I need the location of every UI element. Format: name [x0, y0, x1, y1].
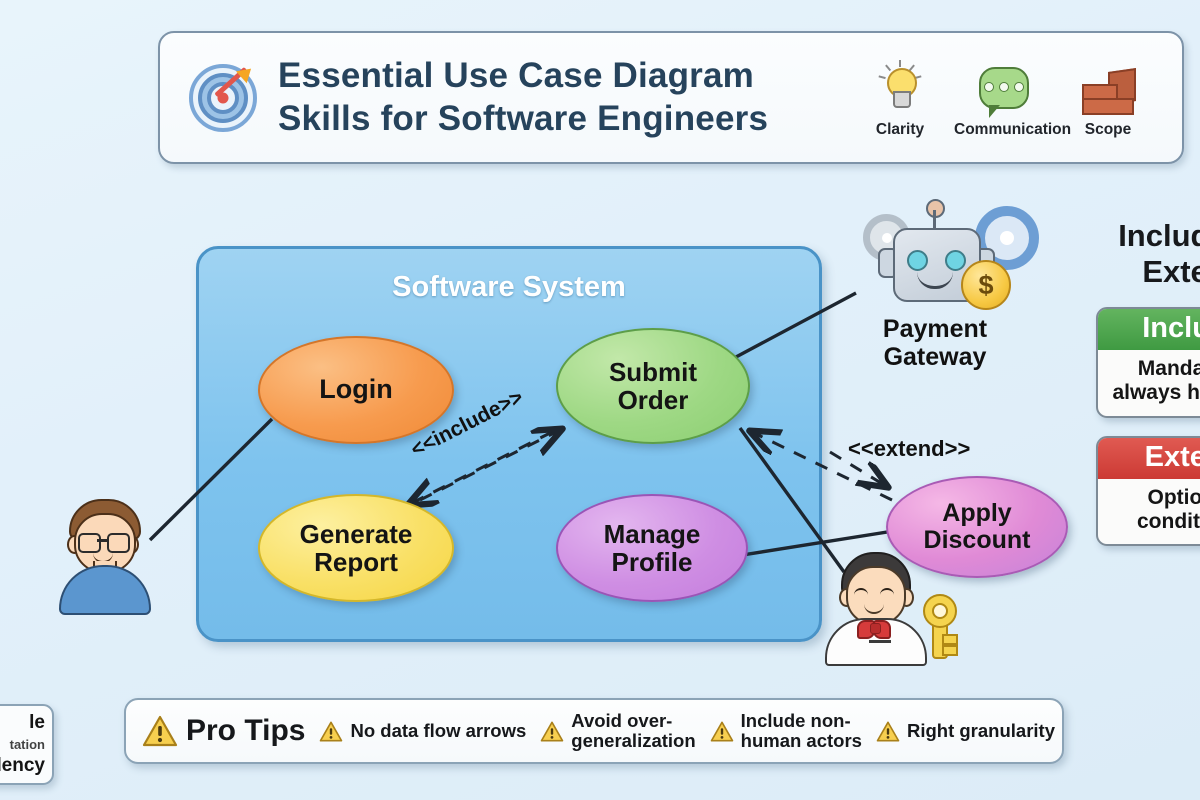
warning-icon	[876, 721, 900, 742]
relation-card-body: Mandatory, always happens	[1098, 350, 1200, 415]
header-pillars: Clarity Communication Scope	[850, 57, 1158, 139]
relation-card-body: Optional, conditional	[1098, 479, 1200, 544]
relation-card-header: Extend	[1098, 438, 1200, 479]
pro-tip-item: Right granularity	[876, 721, 1055, 742]
pro-tips-heading-label: Pro Tips	[186, 714, 305, 748]
actor-customer[interactable]	[38, 497, 168, 611]
use-case-submit-order[interactable]: Submit Order	[556, 328, 750, 444]
warning-icon	[142, 715, 178, 747]
pillar-clarity: Clarity	[850, 57, 950, 139]
pro-tip-item: Include non- human actors	[710, 711, 862, 751]
diagram-canvas: Essential Use Case Diagram Skills for So…	[0, 0, 1200, 800]
actor-payment-gateway[interactable]: $ Payment Gateway	[845, 196, 1025, 371]
actor-label: Payment Gateway	[845, 316, 1025, 371]
pillar-label: Clarity	[850, 121, 950, 139]
pro-tips-heading: Pro Tips	[142, 714, 305, 748]
pro-tip-item: Avoid over- generalization	[540, 711, 695, 751]
pillar-label: Scope	[1058, 121, 1158, 139]
left-legend-line-3: ndency	[0, 755, 45, 777]
left-legend-box: le tation ndency	[0, 704, 54, 785]
warning-icon	[710, 721, 734, 742]
pro-tip-item: No data flow arrows	[319, 721, 526, 742]
relation-panel: Include vs Extend Include Mandatory, alw…	[1096, 218, 1200, 546]
robot-icon: $	[855, 196, 1015, 314]
pro-tips-bar: Pro Tips No data flow arrows Avoid over-…	[124, 698, 1064, 764]
pro-tip-label: Include non- human actors	[741, 711, 862, 751]
system-boundary-title: Software System	[199, 271, 819, 304]
use-case-generate-report[interactable]: Generate Report	[258, 494, 454, 602]
header-banner: Essential Use Case Diagram Skills for So…	[158, 31, 1184, 164]
pro-tip-label: No data flow arrows	[350, 721, 526, 741]
actor-admin[interactable]	[812, 552, 972, 664]
key-icon	[913, 594, 969, 656]
left-legend-line-2: tation	[0, 737, 45, 752]
bricks-icon	[1058, 57, 1158, 119]
page-title: Essential Use Case Diagram Skills for So…	[278, 55, 850, 140]
warning-icon	[319, 721, 343, 742]
relation-panel-title: Include vs Extend	[1096, 218, 1200, 289]
pro-tip-label: Avoid over- generalization	[571, 711, 695, 751]
relation-card-header: Include	[1098, 309, 1200, 350]
warning-icon	[540, 721, 564, 742]
target-icon	[190, 65, 256, 131]
pillar-communication: Communication	[954, 57, 1054, 139]
relation-label-extend: <<extend>>	[848, 436, 970, 462]
relation-card-include: Include Mandatory, always happens	[1096, 307, 1200, 417]
left-legend-line-1: le	[0, 712, 45, 734]
use-case-login[interactable]: Login	[258, 336, 454, 444]
relation-card-extend: Extend Optional, conditional	[1096, 436, 1200, 546]
dollar-coin-icon: $	[961, 260, 1011, 310]
user-avatar-icon	[49, 497, 157, 609]
lightbulb-icon	[850, 57, 950, 119]
use-case-manage-profile[interactable]: Manage Profile	[556, 494, 748, 602]
pillar-scope: Scope	[1058, 57, 1158, 139]
speech-bubble-icon	[954, 57, 1054, 119]
pillar-label: Communication	[954, 121, 1054, 139]
admin-avatar-icon	[817, 552, 967, 662]
pro-tip-label: Right granularity	[907, 721, 1055, 741]
